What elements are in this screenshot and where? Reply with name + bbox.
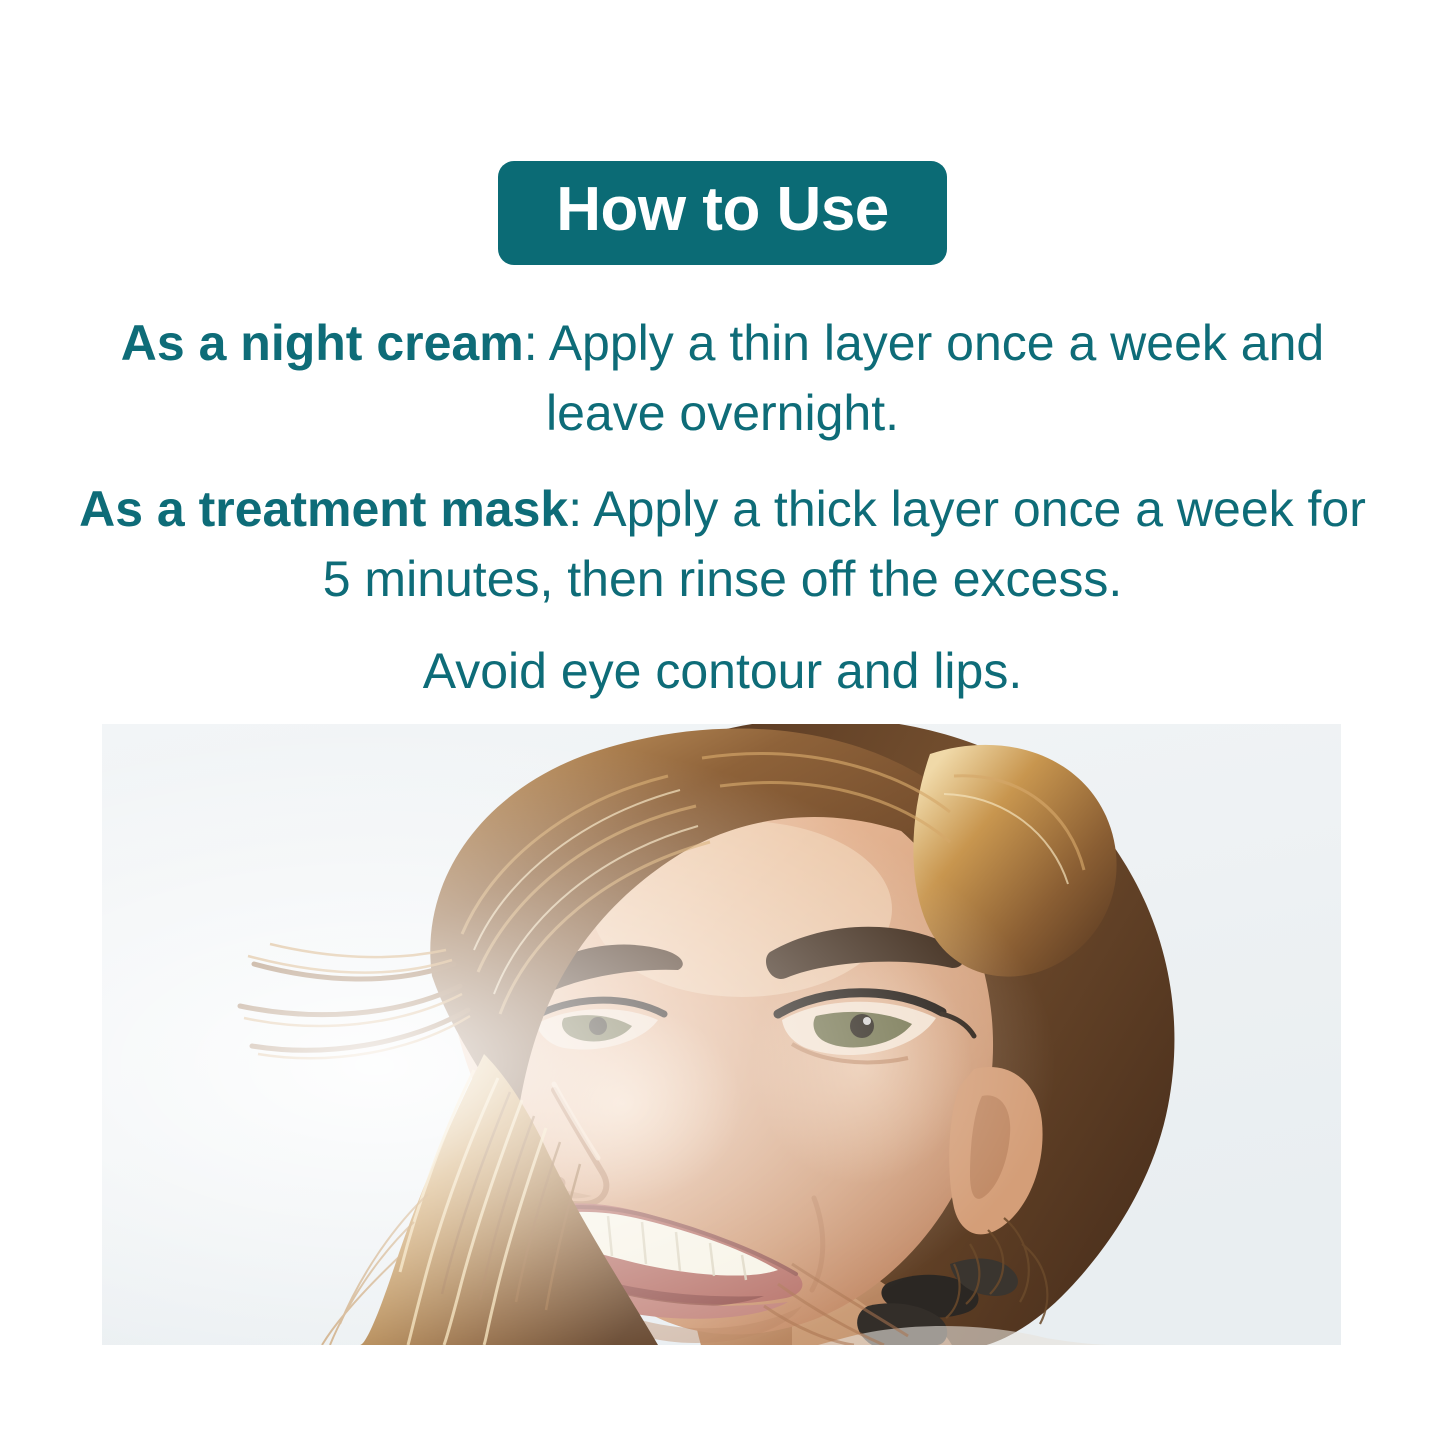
instruction-lead-night-cream: As a night cream bbox=[121, 315, 524, 371]
bottom-white-band bbox=[0, 1345, 1445, 1445]
instruction-lead-treatment-mask: As a treatment mask bbox=[79, 481, 568, 537]
page-title: How to Use bbox=[556, 175, 889, 245]
instruction-paragraph-avoid: Avoid eye contour and lips. bbox=[72, 636, 1373, 706]
instructions-block: As a night cream: Apply a thin layer onc… bbox=[72, 308, 1373, 706]
instruction-paragraph-night-cream: As a night cream: Apply a thin layer onc… bbox=[72, 308, 1373, 448]
instruction-text-avoid: Avoid eye contour and lips. bbox=[423, 643, 1022, 699]
how-to-use-banner: How to Use bbox=[498, 161, 947, 265]
model-photo-illustration bbox=[102, 724, 1341, 1345]
how-to-use-panel: How to Use As a night cream: Apply a thi… bbox=[0, 0, 1445, 1445]
instruction-text-night-cream: : Apply a thin layer once a week and lea… bbox=[524, 315, 1325, 441]
model-photo bbox=[102, 724, 1341, 1345]
banner-row: How to Use bbox=[0, 161, 1445, 265]
instruction-paragraph-treatment-mask: As a treatment mask: Apply a thick layer… bbox=[72, 474, 1373, 614]
